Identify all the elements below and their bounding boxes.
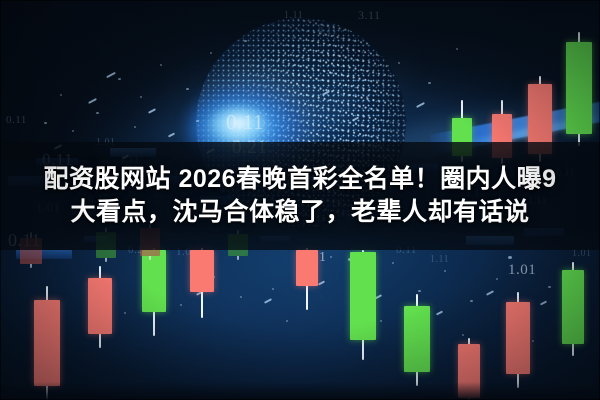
banner-image: 0.110.110.111.010.111.010.110.211.111.11… — [0, 0, 600, 400]
vignette-overlay — [0, 0, 600, 400]
